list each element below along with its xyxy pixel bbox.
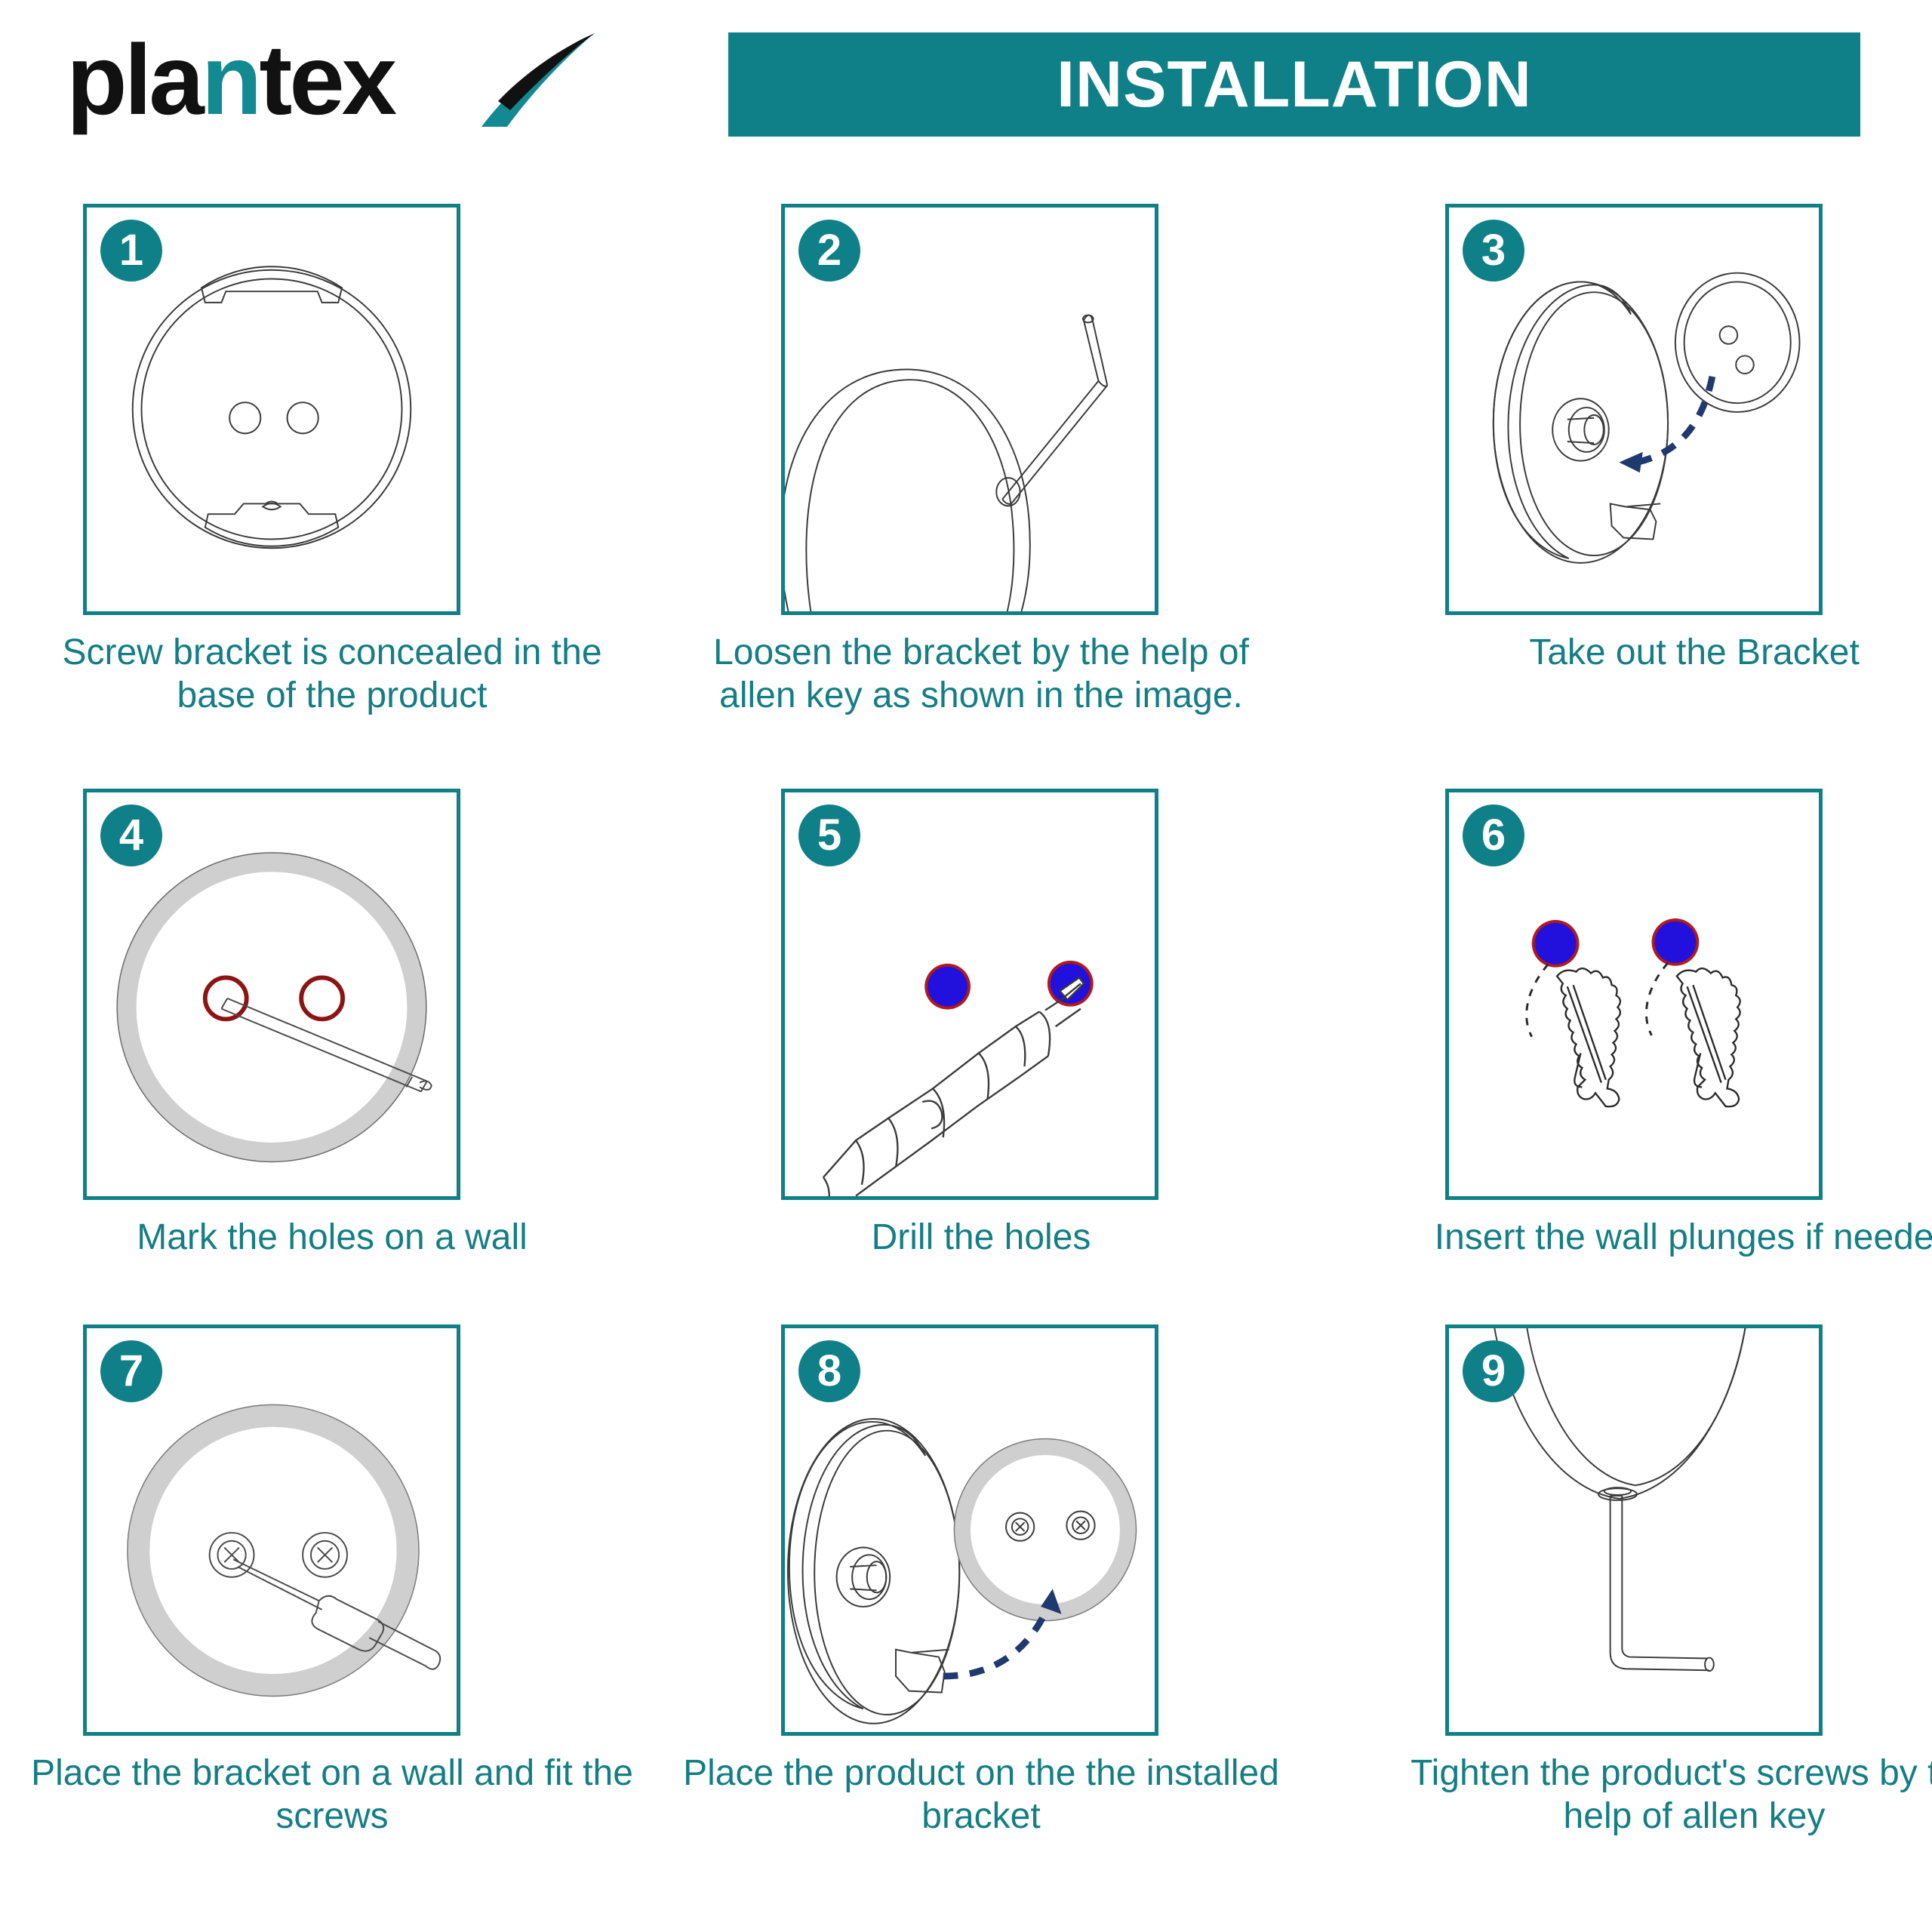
- step-card-8: 8 Place the product on the the installed…: [672, 1324, 1291, 1838]
- logo-text-part3: te: [259, 24, 341, 135]
- step-number-badge-9: 9: [1463, 1340, 1524, 1402]
- step-image-frame-4: 4: [83, 789, 460, 1200]
- step-number-badge-8: 8: [798, 1340, 860, 1402]
- step-image-frame-8: 8: [781, 1324, 1158, 1736]
- step-image-frame-7: 7: [83, 1324, 460, 1736]
- step-card-9: 9 Tighten the product's screws by the he…: [1385, 1324, 1932, 1838]
- drilled-hole-left: [1532, 920, 1580, 968]
- step-number-badge-7: 7: [100, 1340, 162, 1402]
- logo-text-part2: n: [202, 24, 260, 135]
- logo-swoosh-icon: [423, 32, 596, 130]
- logo-text-part1: pla: [66, 24, 202, 135]
- step-number-badge-3: 3: [1463, 220, 1524, 281]
- step-image-frame-2: 2: [781, 204, 1158, 615]
- step-number-badge-6: 6: [1463, 804, 1524, 866]
- step-caption-5: Drill the holes: [672, 1217, 1291, 1260]
- step-number-badge-2: 2: [798, 220, 860, 281]
- step-number-badge-1: 1: [100, 220, 162, 281]
- step-caption-8: Place the product on the the installed b…: [672, 1752, 1291, 1838]
- step-image-frame-5: 5: [781, 789, 1158, 1200]
- page-header: plantex INSTALLATION: [0, 0, 1932, 174]
- step-image-frame-6: 6: [1445, 789, 1823, 1200]
- step-number-badge-5: 5: [798, 804, 860, 866]
- drilled-hole-right: [1652, 918, 1700, 966]
- step-image-frame-3: 3: [1445, 204, 1823, 615]
- step-caption-6: Insert the wall plunges if needed: [1385, 1217, 1932, 1260]
- step-card-1: 1 Screw bracket is concealed in the base…: [23, 204, 641, 717]
- step-card-5: 5 Drill the holes: [672, 789, 1291, 1260]
- step-caption-3: Take out the Bracket: [1385, 632, 1932, 675]
- step-caption-1: Screw bracket is concealed in the base o…: [23, 632, 641, 717]
- step-card-6: 6 Insert the wall plunges if needed: [1385, 789, 1932, 1260]
- step-card-4: 4 Mark the holes on a wall: [23, 789, 641, 1260]
- step-caption-9: Tighten the product's screws by the help…: [1385, 1752, 1932, 1838]
- step-caption-4: Mark the holes on a wall: [23, 1217, 641, 1260]
- banner-title: INSTALLATION: [1057, 48, 1532, 122]
- logo-text-part4: x: [342, 24, 394, 135]
- brand-logo: plantex: [66, 30, 394, 130]
- step-image-frame-1: 1: [83, 204, 460, 615]
- steps-grid: 1 Screw bracket is concealed in the base…: [0, 181, 1932, 1932]
- step-card-7: 7 Place the bracket on a wall and fit th…: [23, 1324, 641, 1838]
- step-caption-7: Place the bracket on a wall and fit the …: [23, 1752, 641, 1838]
- drilled-hole-left: [924, 964, 971, 1010]
- step-caption-2: Loosen the bracket by the help of allen …: [672, 632, 1291, 717]
- installation-banner: INSTALLATION: [728, 32, 1860, 137]
- step-card-2: 2 Loosen the bracket by the help of alle…: [672, 204, 1291, 717]
- step-image-frame-9: 9: [1445, 1324, 1823, 1736]
- step-card-3: 3 Take out the Bracket: [1385, 204, 1932, 675]
- step-number-badge-4: 4: [100, 804, 162, 866]
